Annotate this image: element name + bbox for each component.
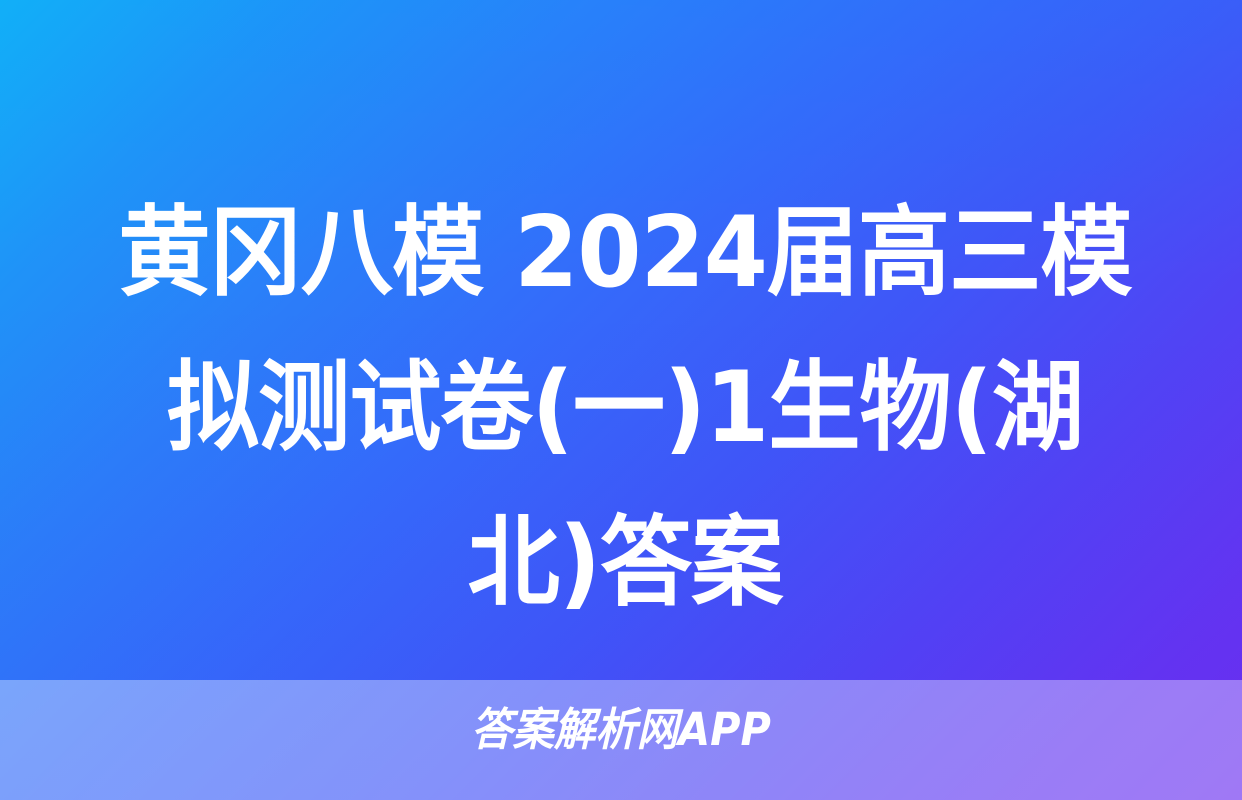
watermark-brand-label: 答案解析网APP [50, 704, 1193, 756]
poster-canvas: 黄冈八模 2024届高三模拟测试卷(一)1生物(湖北)答案 答案解析网APP [0, 0, 1242, 800]
page-title: 黄冈八模 2024届高三模拟测试卷(一)1生物(湖北)答案 [103, 176, 1146, 641]
